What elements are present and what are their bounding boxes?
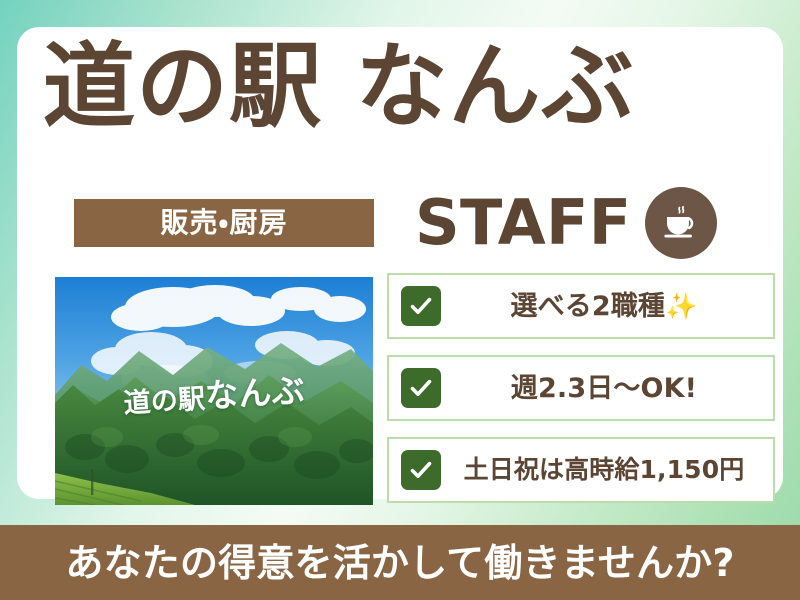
call-to-action-text: あなたの得意を活かして働きませんか?: [65, 544, 734, 582]
checkmark-icon: [401, 368, 441, 408]
staff-heading: STAFF: [415, 183, 717, 263]
job-type-badge-label: 販売・厨房: [160, 209, 287, 237]
list-item: 選べる2職種✨: [387, 273, 775, 339]
call-to-action-strip: あなたの得意を活かして働きませんか?: [0, 525, 800, 600]
list-item-text: 選べる2職種: [510, 291, 665, 322]
coffee-cup-icon: [645, 187, 717, 259]
staff-label: STAFF: [415, 192, 631, 254]
page-title: 道の駅 なんぶ: [43, 41, 757, 133]
content-card: 道の駅 なんぶ 販売・厨房 STAFF: [17, 27, 783, 499]
checkmark-icon: [401, 450, 441, 490]
checkmark-icon: [401, 286, 441, 326]
list-item-label: 週2.3日〜OK!: [441, 375, 773, 402]
list-item-text: 週2.3日〜OK!: [511, 373, 697, 404]
list-item: 土日祝は高時給1,150円: [387, 437, 775, 503]
list-item: 週2.3日〜OK!: [387, 355, 775, 421]
list-item-text: 土日祝は高時給1,150円: [464, 455, 745, 484]
list-item-label: 選べる2職種✨: [441, 293, 773, 320]
benefits-checklist: 選べる2職種✨ 週2.3日〜OK! 土日祝は高時給1,150円: [387, 273, 775, 503]
list-item-label: 土日祝は高時給1,150円: [441, 457, 773, 483]
location-photo: 道の駅なんぶ: [55, 277, 373, 505]
job-type-badge: 販売・厨房: [74, 199, 374, 247]
job-ad-banner: 道の駅 なんぶ 販売・厨房 STAFF: [0, 0, 800, 600]
sparkles-icon: ✨: [665, 292, 698, 322]
